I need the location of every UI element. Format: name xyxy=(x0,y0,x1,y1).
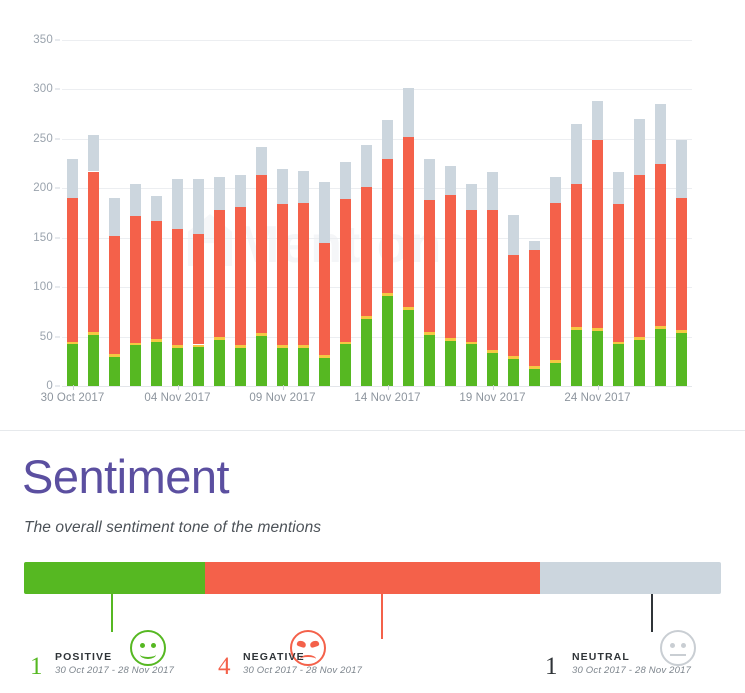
bar-segment-mid xyxy=(676,330,687,333)
x-axis-tick-label: 14 Nov 2017 xyxy=(354,392,420,404)
chart-bar[interactable] xyxy=(67,159,78,386)
y-axis-tick-label: 200 xyxy=(33,182,53,194)
x-axis-tick-label: 09 Nov 2017 xyxy=(249,392,315,404)
bar-segment-positive xyxy=(298,348,309,386)
chart-bar[interactable] xyxy=(613,172,624,386)
bar-segment-positive xyxy=(613,344,624,386)
chart-bar[interactable] xyxy=(151,196,162,386)
sentiment-title: Sentiment xyxy=(22,453,229,500)
bar-segment-neutral xyxy=(508,215,519,255)
bar-segment-neutral xyxy=(571,124,582,184)
x-axis-tick-mark xyxy=(178,385,179,390)
chart-bar[interactable] xyxy=(319,182,330,386)
chart-bar[interactable] xyxy=(109,198,120,386)
bar-segment-negative xyxy=(235,207,246,345)
sentiment-legend: 1POSITIVE30 Oct 2017 - 28 Nov 20174NEGAT… xyxy=(0,594,745,693)
bar-segment-positive xyxy=(487,353,498,386)
bar-segment-mid xyxy=(382,293,393,296)
bar-segment-neutral xyxy=(445,166,456,196)
bar-segment-mid xyxy=(487,350,498,353)
bar-segment-positive xyxy=(172,348,183,386)
bar-segment-mid xyxy=(424,332,435,335)
bar-segment-neutral xyxy=(109,198,120,236)
bar-segment-positive xyxy=(214,340,225,386)
bar-segment-positive xyxy=(382,296,393,386)
bar-segment-positive xyxy=(88,335,99,386)
bar-segment-negative xyxy=(256,175,267,332)
bar-segment-positive xyxy=(655,329,666,386)
bar-segment-negative xyxy=(529,250,540,367)
bar-segment-mid xyxy=(319,355,330,358)
bar-segment-neutral xyxy=(382,120,393,159)
chart-bar[interactable] xyxy=(193,179,204,386)
bar-segment-neutral xyxy=(151,196,162,221)
face-eye-left xyxy=(670,643,675,648)
bar-segment-neutral xyxy=(613,172,624,204)
bar-segment-negative xyxy=(193,234,204,345)
chart-bar[interactable] xyxy=(634,119,645,386)
bar-segment-positive xyxy=(130,345,141,386)
bar-segment-mid xyxy=(634,337,645,340)
chart-bar[interactable] xyxy=(424,159,435,386)
chart-bar[interactable] xyxy=(445,166,456,386)
legend-label-negative: NEGATIVE xyxy=(243,651,305,663)
chart-bar[interactable] xyxy=(214,177,225,386)
bar-segment-positive xyxy=(403,310,414,386)
face-eye-right xyxy=(309,640,319,648)
bar-segment-mid xyxy=(613,342,624,345)
bar-segment-neutral xyxy=(130,184,141,216)
y-axis-tick-mark xyxy=(55,237,60,238)
x-axis-tick-label: 24 Nov 2017 xyxy=(564,392,630,404)
bar-segment-neutral xyxy=(193,179,204,233)
x-axis-tick-label: 04 Nov 2017 xyxy=(144,392,210,404)
face-mouth xyxy=(670,654,686,656)
sentiment-bar-segment-neutral[interactable] xyxy=(540,562,721,594)
bar-segment-neutral xyxy=(277,169,288,205)
chart-bars-layer xyxy=(62,40,692,386)
y-axis-tick-mark xyxy=(55,287,60,288)
bar-segment-positive xyxy=(634,340,645,386)
sentiment-distribution-bar xyxy=(24,562,721,594)
chart-bar[interactable] xyxy=(571,124,582,386)
bar-segment-neutral xyxy=(487,172,498,211)
bar-segment-positive xyxy=(277,348,288,386)
x-axis-tick-label: 30 Oct 2017 xyxy=(41,392,105,404)
bar-segment-mid xyxy=(256,333,267,336)
bar-segment-negative xyxy=(445,195,456,337)
bar-segment-mid xyxy=(340,342,351,345)
bar-segment-negative xyxy=(88,172,99,332)
face-eye-right xyxy=(681,643,686,648)
legend-range-neutral: 30 Oct 2017 - 28 Nov 2017 xyxy=(572,665,691,676)
bar-segment-negative xyxy=(403,137,414,307)
bar-segment-mid xyxy=(214,337,225,340)
legend-count-neutral: 1 xyxy=(545,654,558,679)
bar-segment-mid xyxy=(172,345,183,348)
face-mouth xyxy=(140,650,156,659)
bar-segment-negative xyxy=(550,203,561,360)
bar-segment-negative xyxy=(130,216,141,343)
bar-segment-positive xyxy=(508,359,519,386)
bar-segment-neutral xyxy=(67,159,78,199)
y-axis-tick-label: 0 xyxy=(46,380,53,392)
sentiment-report-page: 050100150200250300350 Mention 30 Oct 201… xyxy=(0,0,745,693)
bar-segment-positive xyxy=(592,331,603,386)
chart-bar[interactable] xyxy=(88,135,99,386)
bar-segment-mid xyxy=(88,332,99,335)
y-axis-tick-label: 50 xyxy=(40,331,53,343)
chart-bar[interactable] xyxy=(361,145,372,386)
bar-segment-mid xyxy=(508,356,519,359)
y-axis-tick-label: 100 xyxy=(33,281,53,293)
bar-segment-neutral xyxy=(361,145,372,188)
face-eye-left xyxy=(296,640,306,648)
y-axis-tick-mark xyxy=(55,89,60,90)
bar-segment-negative xyxy=(298,203,309,345)
legend-count-negative: 4 xyxy=(218,654,231,679)
bar-segment-positive xyxy=(529,369,540,386)
bar-segment-positive xyxy=(319,358,330,386)
bar-segment-mid xyxy=(550,360,561,363)
face-eye-right xyxy=(151,643,156,648)
bar-segment-mid xyxy=(655,326,666,329)
chart-bar[interactable] xyxy=(256,147,267,386)
bar-segment-negative xyxy=(487,210,498,350)
chart-bar[interactable] xyxy=(592,101,603,386)
bar-segment-neutral xyxy=(88,135,99,172)
chart-bar[interactable] xyxy=(655,104,666,386)
chart-bar[interactable] xyxy=(382,120,393,386)
y-axis-tick-mark xyxy=(55,40,60,41)
bar-segment-positive xyxy=(571,330,582,386)
x-axis-tick-mark xyxy=(598,385,599,390)
bar-segment-neutral xyxy=(235,175,246,207)
chart-bar[interactable] xyxy=(466,184,477,386)
bar-segment-positive xyxy=(193,347,204,386)
bar-segment-positive xyxy=(151,342,162,386)
x-axis-tick-mark xyxy=(283,385,284,390)
bar-segment-positive xyxy=(466,344,477,386)
bar-segment-negative xyxy=(592,140,603,328)
bar-segment-positive xyxy=(676,333,687,386)
bar-segment-positive xyxy=(109,357,120,386)
bar-segment-mid xyxy=(445,338,456,341)
bar-segment-mid xyxy=(403,307,414,310)
bar-segment-negative xyxy=(319,243,330,356)
bar-segment-negative xyxy=(340,199,351,341)
bar-segment-negative xyxy=(109,236,120,355)
y-axis-tick-mark xyxy=(55,188,60,189)
bar-segment-neutral xyxy=(529,241,540,250)
chart-bar[interactable] xyxy=(277,169,288,386)
bar-segment-mid xyxy=(298,345,309,348)
bar-segment-positive xyxy=(424,335,435,386)
bar-segment-mid xyxy=(571,327,582,330)
legend-connector-positive xyxy=(111,594,113,632)
bar-segment-negative xyxy=(214,210,225,337)
chart-bar[interactable] xyxy=(529,241,540,386)
legend-range-positive: 30 Oct 2017 - 28 Nov 2017 xyxy=(55,665,174,676)
legend-range-negative: 30 Oct 2017 - 28 Nov 2017 xyxy=(243,665,362,676)
bar-segment-neutral xyxy=(466,184,477,210)
bar-segment-negative xyxy=(466,210,477,341)
chart-x-axis: 30 Oct 201704 Nov 201709 Nov 201714 Nov … xyxy=(62,390,692,412)
bar-segment-neutral xyxy=(403,88,414,136)
bar-segment-mid xyxy=(130,343,141,346)
legend-connector-neutral xyxy=(651,594,653,632)
bar-segment-neutral xyxy=(655,104,666,163)
bar-segment-mid xyxy=(151,339,162,342)
y-axis-tick-label: 350 xyxy=(33,34,53,46)
y-axis-tick-label: 250 xyxy=(33,133,53,145)
legend-label-neutral: NEUTRAL xyxy=(572,651,630,663)
bar-segment-mid xyxy=(529,366,540,369)
chart-bar[interactable] xyxy=(235,175,246,386)
bar-segment-negative xyxy=(655,164,666,326)
bar-segment-mid xyxy=(109,354,120,357)
bar-segment-neutral xyxy=(424,159,435,201)
chart-bar[interactable] xyxy=(550,177,561,386)
bar-segment-neutral xyxy=(340,162,351,200)
bar-segment-positive xyxy=(550,363,561,386)
legend-connector-negative xyxy=(381,594,383,639)
y-axis-tick-mark xyxy=(55,138,60,139)
x-axis-tick-label: 19 Nov 2017 xyxy=(459,392,525,404)
bar-segment-negative xyxy=(382,159,393,293)
bar-segment-negative xyxy=(277,204,288,345)
chart-bar[interactable] xyxy=(340,162,351,386)
chart-bar[interactable] xyxy=(508,215,519,386)
bar-segment-negative xyxy=(508,255,519,357)
bar-segment-negative xyxy=(151,221,162,339)
sentiment-bar-segment-negative[interactable] xyxy=(205,562,540,594)
chart-plot-area: 050100150200250300350 Mention xyxy=(62,40,692,386)
bar-segment-positive xyxy=(256,336,267,386)
bar-segment-negative xyxy=(172,229,183,346)
bar-segment-negative xyxy=(424,200,435,331)
x-axis-tick-mark xyxy=(73,385,74,390)
bar-segment-positive xyxy=(67,344,78,386)
chart-bar[interactable] xyxy=(487,171,498,386)
smiley-neutral-icon xyxy=(660,630,696,666)
bar-segment-mid xyxy=(277,345,288,348)
bar-segment-positive xyxy=(340,344,351,386)
y-axis-tick-label: 300 xyxy=(33,83,53,95)
chart-bar[interactable] xyxy=(298,171,309,387)
bar-segment-neutral xyxy=(550,177,561,203)
bar-segment-neutral xyxy=(592,101,603,140)
bar-segment-mid xyxy=(67,342,78,345)
sentiment-bar-segment-positive[interactable] xyxy=(24,562,205,594)
bar-segment-neutral xyxy=(319,182,330,242)
mentions-volume-chart-panel: 050100150200250300350 Mention 30 Oct 201… xyxy=(0,0,745,420)
bar-segment-mid xyxy=(361,316,372,319)
bar-segment-neutral xyxy=(676,140,687,198)
x-axis-tick-mark xyxy=(388,385,389,390)
bar-segment-positive xyxy=(445,341,456,386)
bar-segment-neutral xyxy=(172,179,183,228)
smiley-happy-icon xyxy=(130,630,166,666)
sentiment-subtitle: The overall sentiment tone of the mentio… xyxy=(24,519,321,537)
bar-segment-mid xyxy=(235,345,246,348)
x-axis-tick-mark xyxy=(493,385,494,390)
bar-segment-neutral xyxy=(214,177,225,210)
sentiment-panel: Sentiment The overall sentiment tone of … xyxy=(0,431,745,693)
bar-segment-negative xyxy=(67,198,78,341)
bar-segment-positive xyxy=(235,348,246,386)
bar-segment-mid xyxy=(193,345,204,348)
bar-segment-negative xyxy=(571,184,582,326)
bar-segment-mid xyxy=(466,342,477,345)
y-axis-tick-mark xyxy=(55,386,60,387)
chart-bar[interactable] xyxy=(676,140,687,386)
bar-segment-negative xyxy=(634,175,645,336)
bar-segment-neutral xyxy=(256,147,267,176)
bar-segment-negative xyxy=(361,187,372,316)
bar-segment-neutral xyxy=(634,119,645,175)
chart-bar[interactable] xyxy=(130,184,141,386)
bar-segment-negative xyxy=(676,198,687,329)
legend-label-positive: POSITIVE xyxy=(55,651,112,663)
legend-count-positive: 1 xyxy=(30,654,43,679)
chart-bar[interactable] xyxy=(403,88,414,386)
bar-segment-mid xyxy=(592,328,603,331)
bar-segment-neutral xyxy=(298,171,309,204)
y-axis-tick-label: 150 xyxy=(33,232,53,244)
bar-segment-positive xyxy=(361,319,372,386)
y-axis-tick-mark xyxy=(55,336,60,337)
face-eye-left xyxy=(140,643,145,648)
chart-bar[interactable] xyxy=(172,179,183,386)
bar-segment-negative xyxy=(613,204,624,341)
